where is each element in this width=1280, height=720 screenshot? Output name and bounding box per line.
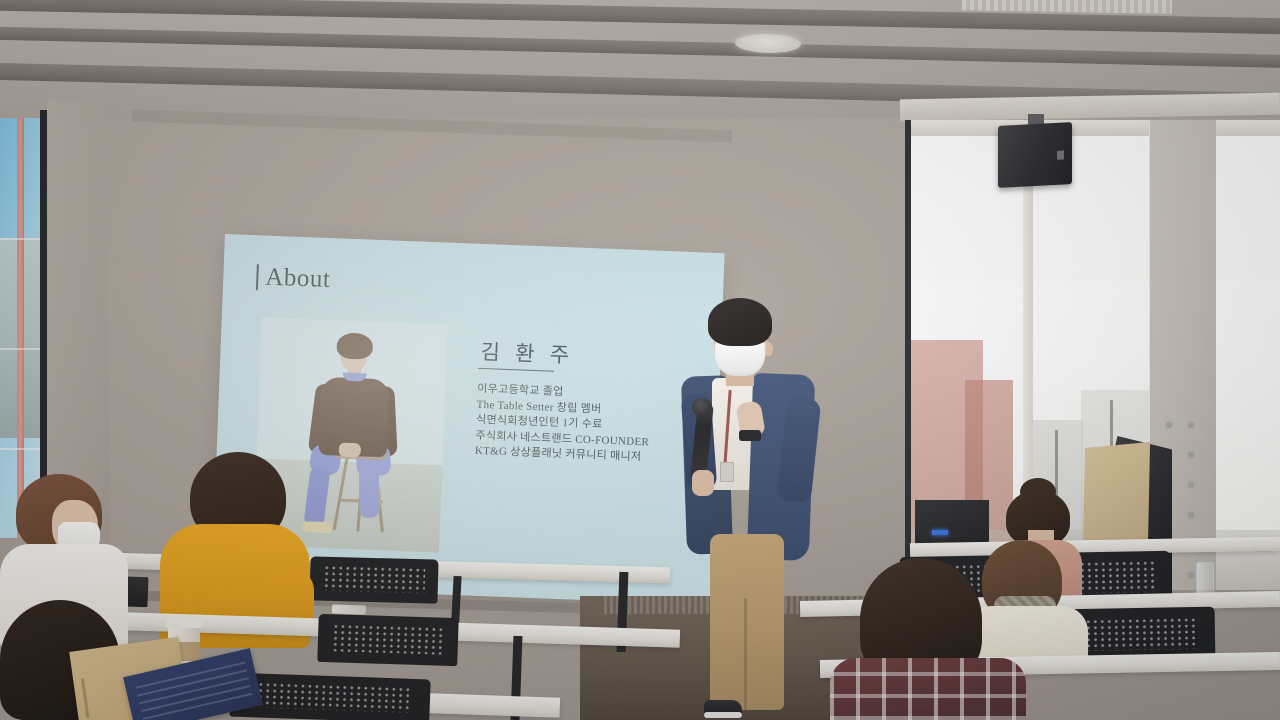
slide-person-name: 김 환 주 (480, 336, 575, 370)
figure-hair (336, 332, 373, 359)
presenter (668, 298, 828, 720)
attendee-plaid-shirt (830, 558, 1030, 720)
ceiling-speaker-icon (998, 122, 1072, 188)
presenter-hand (692, 470, 714, 496)
presenter-shoe-sole (704, 712, 742, 718)
presenter-pants (710, 534, 784, 710)
window-transom (0, 348, 40, 350)
title-accent-bar (256, 264, 259, 290)
chair[interactable] (317, 614, 458, 666)
smoke-detector-icon (742, 37, 756, 43)
window-transom (0, 238, 40, 240)
slide-title-block: About (256, 263, 331, 294)
window-header (905, 120, 1280, 136)
attendee-plaid-top (830, 658, 1026, 720)
figure-hands (339, 443, 362, 458)
chair[interactable] (309, 556, 438, 603)
wristwatch-icon (739, 430, 761, 441)
name-badge (720, 462, 734, 482)
presenter-pants-seam (744, 598, 747, 710)
slide-bullet-list: 이우고등학교 졸업 The Table Setter 창립 멤버 식면식회청년인… (475, 382, 652, 466)
ceiling-vent (962, 0, 1172, 14)
smartphone[interactable] (332, 604, 366, 614)
figure-leg (359, 468, 380, 518)
window-mullion (905, 120, 911, 590)
kiosk-led-indicator (932, 530, 948, 535)
ceiling-beam (0, 26, 1280, 69)
coffee-cup-lid (165, 620, 203, 628)
slide-section-title: About (265, 264, 331, 294)
photo-scene: About (0, 0, 1280, 720)
presenter-hair (708, 298, 772, 346)
name-underline (478, 368, 554, 372)
window-transom (0, 448, 40, 450)
